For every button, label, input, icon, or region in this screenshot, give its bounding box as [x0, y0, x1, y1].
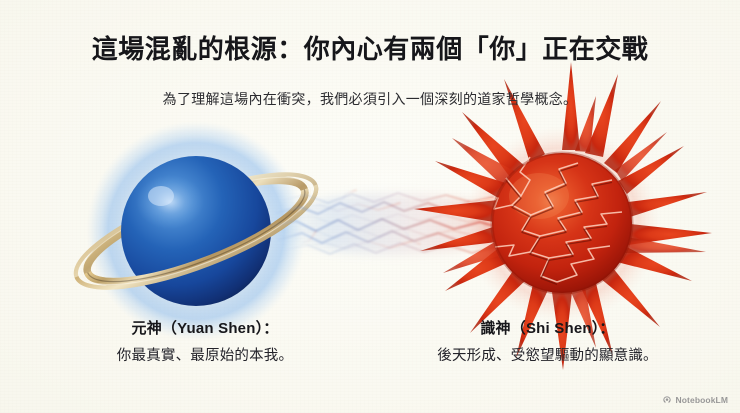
lightning-clash: [272, 190, 506, 254]
planet-specular-highlight: [136, 175, 204, 229]
planet-ring-front: [77, 185, 329, 310]
caption-yuan-shen-body: 你最真實、最原始的本我。: [60, 346, 350, 368]
planet-ring-back: [64, 152, 328, 310]
page-title: 這場混亂的根源：你內心有兩個「你」正在交戰: [0, 33, 740, 66]
planet-body: [121, 156, 271, 306]
caption-shi-shen-title: 識神（Shi Shen）：: [400, 318, 695, 341]
orb-crack-shadows: [506, 165, 612, 284]
notebooklm-watermark: NotebookLM: [662, 395, 728, 405]
orb-core: [492, 153, 632, 293]
orb-glow: [464, 126, 660, 322]
caption-shi-shen-body: 後天形成、受慾望驅動的顯意識。: [400, 346, 695, 368]
caption-shi-shen: 識神（Shi Shen）： 後天形成、受慾望驅動的顯意識。: [400, 318, 695, 367]
orb-cracks: [480, 157, 622, 282]
page-subtitle: 為了理解這場內在衝突，我們必須引入一個深刻的道家哲學概念。: [0, 89, 740, 109]
caption-yuan-shen-title: 元神（Yuan Shen）：: [60, 318, 350, 341]
notebooklm-icon: [662, 395, 672, 405]
caption-yuan-shen: 元神（Yuan Shen）： 你最真實、最原始的本我。: [60, 318, 350, 367]
energy-haze: [275, 194, 515, 254]
planet-glow: [86, 121, 306, 341]
slide-canvas: 這場混亂的根源：你內心有兩個「你」正在交戰 為了理解這場內在衝突，我們必須引入一…: [0, 0, 740, 413]
notebooklm-label: NotebookLM: [676, 395, 728, 405]
yuan-shen-planet: [64, 121, 328, 341]
planet-halo: [108, 143, 284, 319]
